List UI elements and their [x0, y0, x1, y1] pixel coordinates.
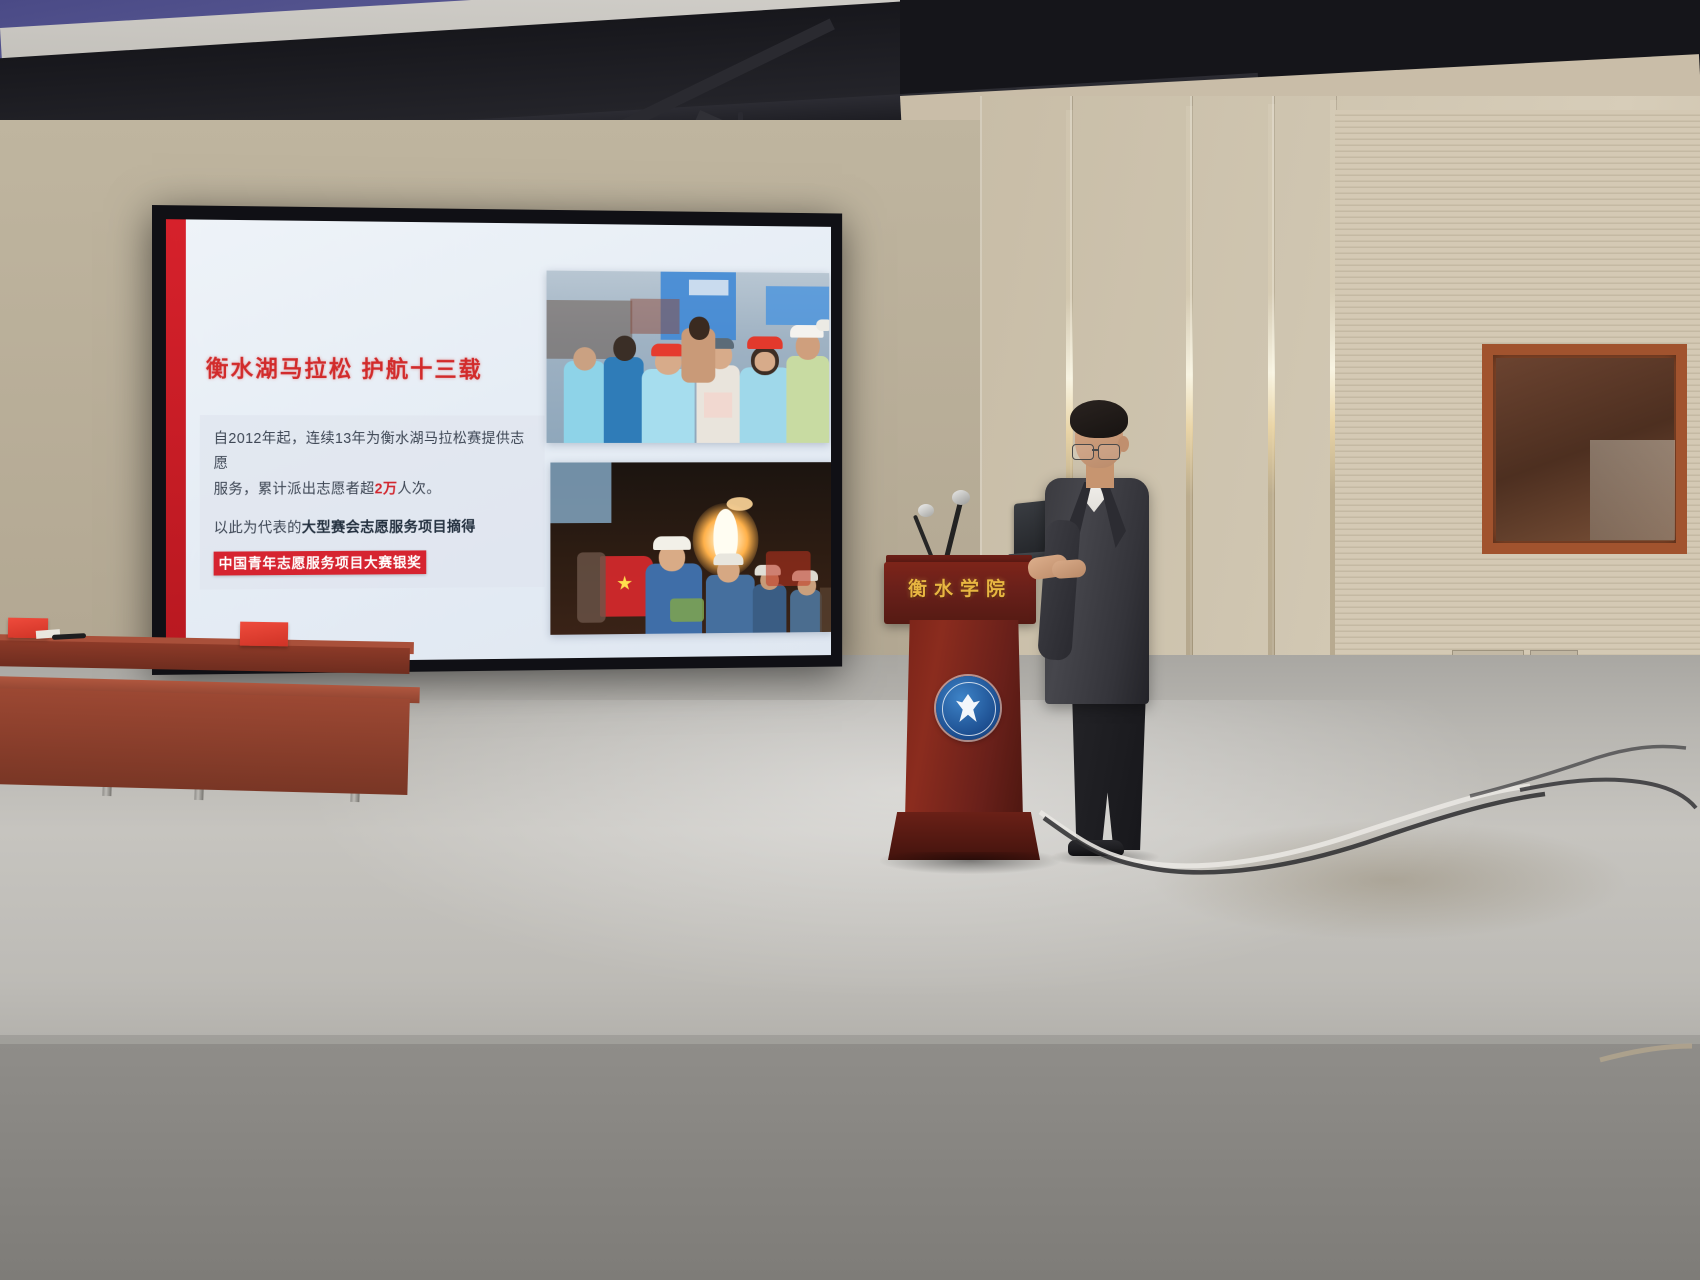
speaker-hand-2: [1051, 559, 1086, 579]
eyeglasses-bridge: [1092, 449, 1099, 451]
microphone-icon: [918, 504, 934, 517]
name-card[interactable]: [240, 622, 288, 647]
projection-screen[interactable]: 衡水湖马拉松 护航十三载 自2012年起，连续13年为衡水湖马拉松赛提供志愿 服…: [152, 205, 842, 675]
slide-highlight-number: 2万: [375, 481, 398, 497]
slide-line-3-text-b: 大型赛会志愿服务项目摘得: [302, 520, 476, 537]
slide-line-3: 以此为代表的大型赛会志愿服务项目摘得: [214, 516, 535, 543]
university-crest-icon: [936, 676, 1000, 740]
slide-photo-marathon-volunteers: [547, 271, 830, 443]
award-banner: 中国青年志愿服务项目大赛银奖: [214, 550, 427, 575]
window-reflection: [1590, 440, 1675, 540]
slide-surface: 衡水湖马拉松 护航十三载 自2012年起，连续13年为衡水湖马拉松赛提供志愿 服…: [166, 219, 831, 663]
slide-accent-bar: [166, 219, 186, 663]
slide-line-2: 服务，累计派出志愿者超2万人次。: [214, 477, 535, 503]
lower-floor-area: [0, 1044, 1700, 1280]
slide-line-3-text-a: 以此为代表的: [214, 520, 302, 536]
eyeglasses-icon: [1072, 444, 1094, 460]
microphone-icon: [952, 490, 970, 505]
slide-body-text: 自2012年起，连续13年为衡水湖马拉松赛提供志愿 服务，累计派出志愿者超2万人…: [200, 415, 545, 589]
podium-shadow: [880, 852, 1060, 874]
podium-front-panel: 衡水学院: [884, 562, 1036, 624]
floor-scuff-mark: [1150, 820, 1630, 940]
podium-name-plate: 衡水学院: [890, 574, 1030, 601]
auditorium-scene: 衡水湖马拉松 护航十三载 自2012年起，连续13年为衡水湖马拉松赛提供志愿 服…: [0, 0, 1700, 1280]
speaker-hair: [1070, 400, 1128, 438]
slide-line-2-text-a: 服务，累计派出志愿者超: [214, 481, 375, 497]
speaker-shadow: [1050, 848, 1160, 866]
slide-title: 衡水湖马拉松 护航十三载: [206, 349, 483, 384]
slide-line-2-text-b: 人次。: [397, 481, 440, 497]
slide-line-1-text: 自2012年起，连续13年为衡水湖马拉松赛提供志愿: [214, 431, 525, 472]
eyeglasses-icon-right: [1098, 444, 1120, 460]
presidium-table-front: [0, 688, 410, 795]
slide-photo-night-volunteers: [550, 462, 831, 635]
slide-line-1: 自2012年起，连续13年为衡水湖马拉松赛提供志愿: [214, 427, 535, 478]
